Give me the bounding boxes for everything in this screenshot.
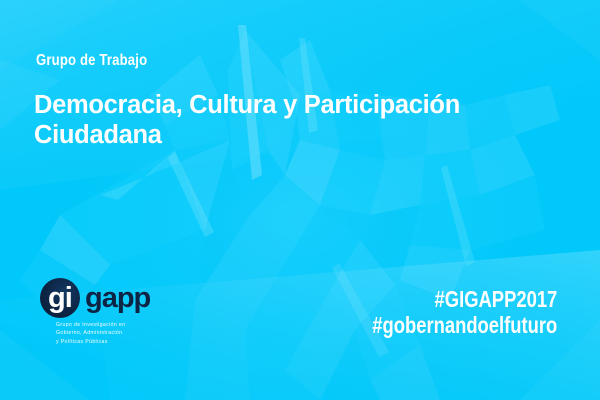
logo-wordmark: gi gapp Grupo de Investigación en Gobier… <box>40 276 200 320</box>
hashtag-group: #GIGAPP2017 #gobernandoelfuturo <box>326 286 557 338</box>
hashtag-secondary: #gobernandoelfuturo <box>372 312 557 338</box>
logo-text-gi: gi <box>48 280 72 316</box>
presentation-slide: Grupo de Trabajo Democracia, Cultura y P… <box>0 0 600 400</box>
gigapp-logo: gi gapp Grupo de Investigación en Gobier… <box>40 276 200 320</box>
logo-tagline: Grupo de Investigación en Gobierno, Admi… <box>56 321 125 346</box>
slide-title: Democracia, Cultura y Participación Ciud… <box>34 90 554 150</box>
hashtag-primary: #GIGAPP2017 <box>372 286 557 312</box>
logo-text-gapp: gapp <box>85 280 150 316</box>
slide-eyebrow-label: Grupo de Trabajo <box>36 52 147 70</box>
